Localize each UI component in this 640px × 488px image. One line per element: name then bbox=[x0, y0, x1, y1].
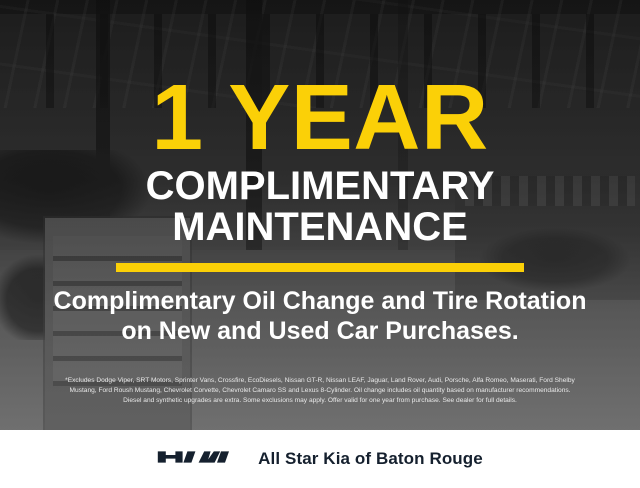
hero-copy: 1 YEAR COMPLIMENTARY MAINTENANCE Complim… bbox=[0, 0, 640, 430]
accent-divider bbox=[116, 263, 524, 272]
headline-offer-line-1: COMPLIMENTARY bbox=[146, 164, 495, 208]
kia-logo-icon bbox=[157, 445, 237, 474]
footer-bar: All Star Kia of Baton Rouge bbox=[0, 430, 640, 488]
tagline: Complimentary Oil Change and Tire Rotati… bbox=[54, 286, 587, 347]
tagline-line-2: on New and Used Car Purchases. bbox=[54, 316, 587, 347]
disclaimer-line-3: Diesel and synthetic upgrades are extra.… bbox=[14, 396, 626, 406]
hero-banner: 1 YEAR COMPLIMENTARY MAINTENANCE Complim… bbox=[0, 0, 640, 430]
dealer-name: All Star Kia of Baton Rouge bbox=[258, 449, 483, 469]
disclaimer: *Excludes Dodge Viper, SRT Motors, Sprin… bbox=[14, 376, 626, 407]
headline-offer-line-2: MAINTENANCE bbox=[146, 207, 495, 248]
headline-year: 1 YEAR bbox=[151, 78, 488, 158]
disclaimer-line-2: Mustang, Ford Roush Mustang, Chevrolet C… bbox=[14, 386, 626, 396]
promo-ad: 1 YEAR COMPLIMENTARY MAINTENANCE Complim… bbox=[0, 0, 640, 488]
disclaimer-line-1: *Excludes Dodge Viper, SRT Motors, Sprin… bbox=[14, 376, 626, 386]
headline-offer: COMPLIMENTARY MAINTENANCE bbox=[146, 166, 495, 248]
tagline-line-1: Complimentary Oil Change and Tire Rotati… bbox=[54, 287, 587, 315]
